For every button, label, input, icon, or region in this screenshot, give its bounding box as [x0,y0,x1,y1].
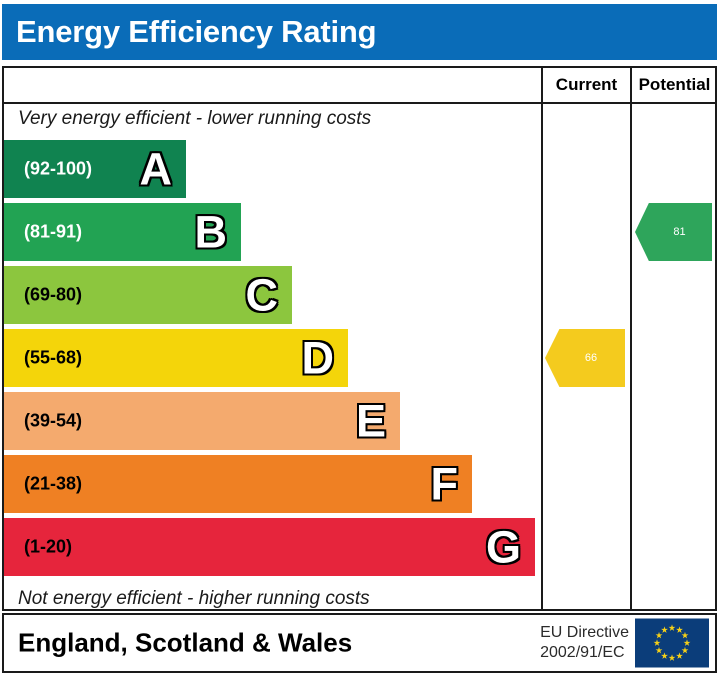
band-range-c: (69-80) [24,285,82,306]
rating-band-b: (81-91)B [4,203,241,261]
footer-directive-line2: 2002/91/EC [540,643,629,663]
band-range-a: (92-100) [24,159,92,180]
footer-directive-line1: EU Directive [540,623,629,643]
eu-flag-star [656,632,663,639]
band-letter-c: C [246,273,279,318]
eu-flag-icon [635,619,709,668]
eu-flag-star [682,632,689,639]
current-rating-value: 66 [545,352,625,364]
caption-not-efficient: Not energy efficient - higher running co… [18,588,370,610]
rating-band-e: (39-54)E [4,392,400,450]
chart-title-bar: Energy Efficiency Rating [2,4,717,60]
page-title: Energy Efficiency Rating [16,14,376,50]
band-letter-f: F [431,462,459,507]
rating-band-g: (1-20)G [4,518,535,576]
rating-band-c: (69-80)C [4,266,292,324]
eu-flag-star [661,652,668,659]
potential-column-divider [630,66,632,611]
band-range-d: (55-68) [24,348,82,369]
current-rating-arrow: 66 [545,329,625,387]
header-row-divider [2,102,717,104]
eu-flag-star [669,654,676,661]
eu-flag-star [676,626,683,633]
band-range-b: (81-91) [24,222,82,243]
column-header-current: Current [543,68,630,102]
energy-efficiency-rating-chart: Energy Efficiency Rating Current Potenti… [0,0,719,676]
rating-band-d: (55-68)D [4,329,348,387]
band-range-f: (21-38) [24,474,82,495]
eu-flag-star [669,624,676,631]
band-letter-d: D [302,336,335,381]
band-letter-e: E [356,399,386,444]
footer-directive: EU Directive 2002/91/EC [540,623,629,663]
footer-region-label: England, Scotland & Wales [18,628,352,659]
caption-very-efficient: Very energy efficient - lower running co… [18,108,371,130]
eu-flag-star [661,626,668,633]
potential-rating-arrow: 81 [635,203,712,261]
rating-bands: (92-100)A(81-91)B(69-80)C(55-68)D(39-54)… [4,140,539,580]
band-letter-g: G [486,525,521,570]
band-range-g: (1-20) [24,537,72,558]
rating-band-f: (21-38)F [4,455,472,513]
eu-flag-star [684,639,691,646]
potential-rating-value: 81 [635,226,712,238]
current-column-divider [541,66,543,611]
rating-band-a: (92-100)A [4,140,186,198]
eu-flag-star [654,639,661,646]
band-letter-b: B [195,210,228,255]
band-range-e: (39-54) [24,411,82,432]
eu-flag-star [656,647,663,654]
column-header-potential: Potential [632,68,717,102]
band-letter-a: A [140,147,173,192]
eu-flag-star [682,647,689,654]
chart-footer: England, Scotland & Wales EU Directive 2… [2,613,717,673]
eu-flag-star [676,652,683,659]
